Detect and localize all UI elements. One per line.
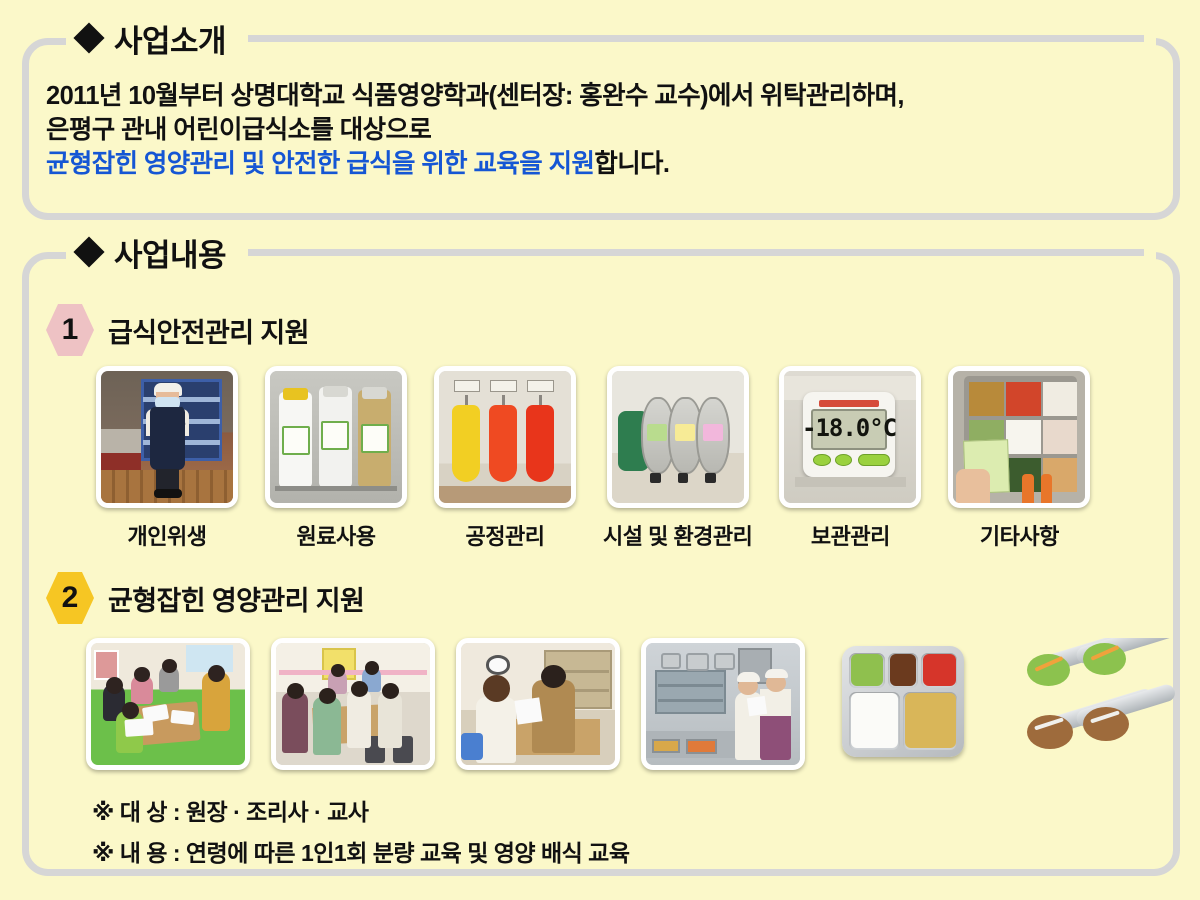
hexagon-badge-1: 1: [46, 304, 94, 356]
subsection-1-header: 1 급식안전관리 지원: [46, 304, 309, 356]
photo-portioned-meal-tray: [826, 638, 990, 770]
detail-section-header: 사업내용: [66, 229, 1156, 275]
photo-cell-gloves: 공정관리: [434, 366, 576, 551]
photo-food-sample-tray: [948, 366, 1090, 508]
photo-cell-meal-tray: [826, 638, 990, 770]
photo-caption: 원료사용: [297, 519, 376, 551]
photo-caption: 개인위생: [128, 519, 207, 551]
detail-section-title: 사업내용: [114, 230, 226, 275]
photo-cell-consultation: [456, 638, 620, 770]
subsection-2-photo-row: [86, 638, 1175, 770]
photo-cell-portion-spoons: [1011, 638, 1175, 770]
photo-cell-hygiene: 개인위생: [96, 366, 238, 551]
header-rule: [248, 249, 1144, 256]
photo-group-education-green-room: [86, 638, 250, 770]
photo-freezer-thermometer: -18.0°C: [779, 366, 921, 508]
subsection-2-title: 균형잡힌 영양관리 지원: [108, 579, 364, 618]
photo-cell-thermometer: -18.0°C 보관관리: [779, 366, 921, 551]
intro-line-2: 은평구 관내 어린이급식소를 대상으로: [46, 114, 1156, 148]
photo-office-consultation: [456, 638, 620, 770]
subsection-2-header: 2 균형잡힌 영양관리 지원: [46, 572, 364, 624]
intro-section-header: 사업소개: [66, 15, 1156, 61]
intro-tail: 합니다.: [594, 150, 669, 178]
intro-line-1: 2011년 10월부터 상명대학교 식품영양학과(센터장: 홍완수 교수)에서 …: [46, 80, 1156, 114]
photo-labeled-waste-bins: [607, 366, 749, 508]
subsection-2-notes: ※ 대 상 : 원장 · 조리사 · 교사 ※ 내 용 : 연령에 따른 1인1…: [92, 793, 629, 868]
note-content: ※ 내 용 : 연령에 따른 1인1회 분량 교육 및 영양 배식 교육: [92, 834, 629, 868]
diamond-icon: [73, 22, 104, 53]
photo-caption: 보관관리: [811, 519, 890, 551]
intro-highlight: 균형잡힌 영양관리 및 안전한 급식을 위한 교육을 지원: [46, 150, 594, 178]
photo-kitchen-inspection: [641, 638, 805, 770]
photo-cell-kitchen-inspection: [641, 638, 805, 770]
photo-portion-spoons: [1011, 638, 1175, 770]
subsection-1-title: 급식안전관리 지원: [108, 311, 309, 350]
photo-cell-ingredients: 원료사용: [265, 366, 407, 551]
photo-cell-education-green: [86, 638, 250, 770]
photo-hanging-rubber-gloves: [434, 366, 576, 508]
thermometer-reading: -18.0°C: [813, 416, 884, 441]
photo-group-education-classroom: [271, 638, 435, 770]
photo-cell-waste-bins: 시설 및 환경관리: [603, 366, 752, 551]
photo-labeled-ingredient-bottles: [265, 366, 407, 508]
photo-kitchen-worker-hygiene: [96, 366, 238, 508]
photo-caption: 시설 및 환경관리: [603, 519, 752, 551]
subsection-1-photo-row: 개인위생 원료사용 공정관리: [96, 366, 1090, 551]
header-rule: [248, 35, 1144, 42]
photo-cell-food-sample: 기타사항: [948, 366, 1090, 551]
photo-caption: 공정관리: [466, 519, 545, 551]
intro-body-text: 2011년 10월부터 상명대학교 식품영양학과(센터장: 홍완수 교수)에서 …: [46, 80, 1156, 182]
hexagon-badge-2: 2: [46, 572, 94, 624]
photo-cell-education-classroom: [271, 638, 435, 770]
diamond-icon: [73, 236, 104, 267]
intro-line-3: 균형잡힌 영양관리 및 안전한 급식을 위한 교육을 지원합니다.: [46, 148, 1156, 182]
photo-caption: 기타사항: [980, 519, 1059, 551]
note-target: ※ 대 상 : 원장 · 조리사 · 교사: [92, 793, 629, 827]
intro-section-title: 사업소개: [114, 16, 226, 61]
